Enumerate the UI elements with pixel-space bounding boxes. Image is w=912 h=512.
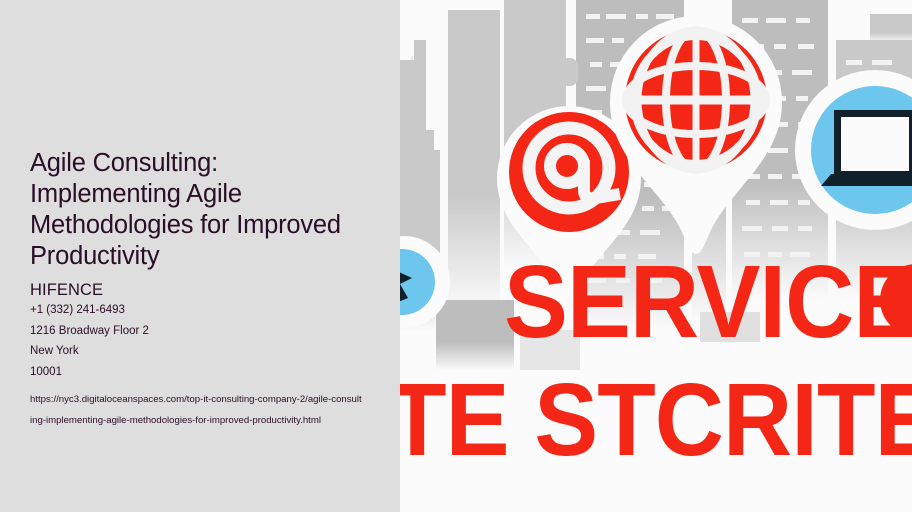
laptop-icon — [795, 70, 912, 230]
cursor-icon — [400, 236, 450, 328]
street-address: 1216 Broadway Floor 2 — [30, 321, 370, 342]
page-title: Agile Consulting: Implementing Agile Met… — [30, 148, 360, 272]
organization-name: HIFENCE — [30, 280, 370, 300]
article-info-content: Agile Consulting: Implementing Agile Met… — [30, 148, 370, 431]
article-info-panel: Agile Consulting: Implementing Agile Met… — [0, 0, 400, 512]
headline-line-2: TE STCRITEM — [400, 368, 912, 471]
city-name: New York — [30, 341, 370, 362]
promo-graphic-panel: SERVICE TE STCRITEM — [400, 0, 912, 512]
headline-line-1: SERVICE — [504, 250, 912, 353]
globe-icon — [610, 16, 782, 254]
postal-code: 10001 — [30, 362, 370, 383]
promo-card: Agile Consulting: Implementing Agile Met… — [0, 0, 912, 512]
source-url[interactable]: https://nyc3.digitaloceanspaces.com/top-… — [30, 390, 362, 431]
phone-number: +1 (332) 241-6493 — [30, 300, 370, 321]
